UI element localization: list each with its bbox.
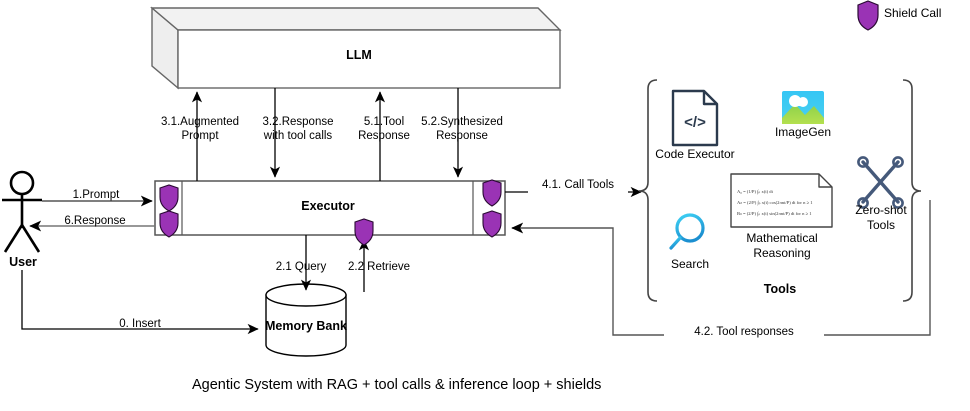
- diagram-caption: Agentic System with RAG + tool calls & i…: [192, 377, 601, 393]
- edge-label-call-tools: 4.1. Call Tools: [528, 179, 628, 193]
- tool-label-image-gen: ImageGen: [763, 126, 843, 140]
- executor-label: Executor: [268, 200, 388, 214]
- tool-label-zero-shot-tools: Zero-shot Tools: [838, 203, 924, 233]
- llm-label: LLM: [299, 49, 419, 63]
- svg-text:</>: </>: [684, 114, 706, 131]
- tools-group-brace-right: [903, 80, 921, 301]
- shield-icon-legend: [858, 1, 878, 30]
- code-document-icon[interactable]: </>: [673, 91, 717, 145]
- tool-label-mathematical-reasoning: Mathematical Reasoning: [726, 231, 838, 261]
- edge-label-response: 6.Response: [40, 215, 150, 229]
- edge-label-query: 2.1 Query: [262, 261, 340, 275]
- user-label: User: [0, 256, 46, 270]
- tool-label-search: Search: [655, 258, 725, 272]
- legend-label: Shield Call: [884, 7, 970, 21]
- tool-label-code-executor: Code Executor: [645, 148, 745, 162]
- crossed-wrenches-icon[interactable]: [858, 157, 902, 207]
- edge-label-tool-responses: 4.2. Tool responses: [664, 326, 824, 340]
- tools-group-label: Tools: [740, 283, 820, 297]
- edge-label-insert: 0. Insert: [85, 318, 195, 332]
- edge-label-synthesized-response: 5.2.Synthesized Response: [404, 116, 520, 143]
- diagram-canvas: </> A₀ = (1/P) ∫ₚ x(t) dt Aₙ = (2/P) ∫ₚ …: [0, 0, 970, 411]
- edge-label-prompt: 1.Prompt: [46, 189, 146, 203]
- user-icon[interactable]: [2, 172, 42, 252]
- diagram-svg: </> A₀ = (1/P) ∫ₚ x(t) dt Aₙ = (2/P) ∫ₚ …: [0, 0, 970, 411]
- magnifier-icon[interactable]: [671, 215, 703, 248]
- memory-bank-label: Memory Bank: [246, 320, 366, 334]
- formula-document-icon[interactable]: A₀ = (1/P) ∫ₚ x(t) dt Aₙ = (2/P) ∫ₚ x(t)…: [731, 174, 832, 227]
- shield-icon-executor-memory: [355, 219, 373, 245]
- image-thumbnail-icon[interactable]: [782, 91, 824, 124]
- edge-label-retrieve: 2.2 Retrieve: [334, 261, 424, 275]
